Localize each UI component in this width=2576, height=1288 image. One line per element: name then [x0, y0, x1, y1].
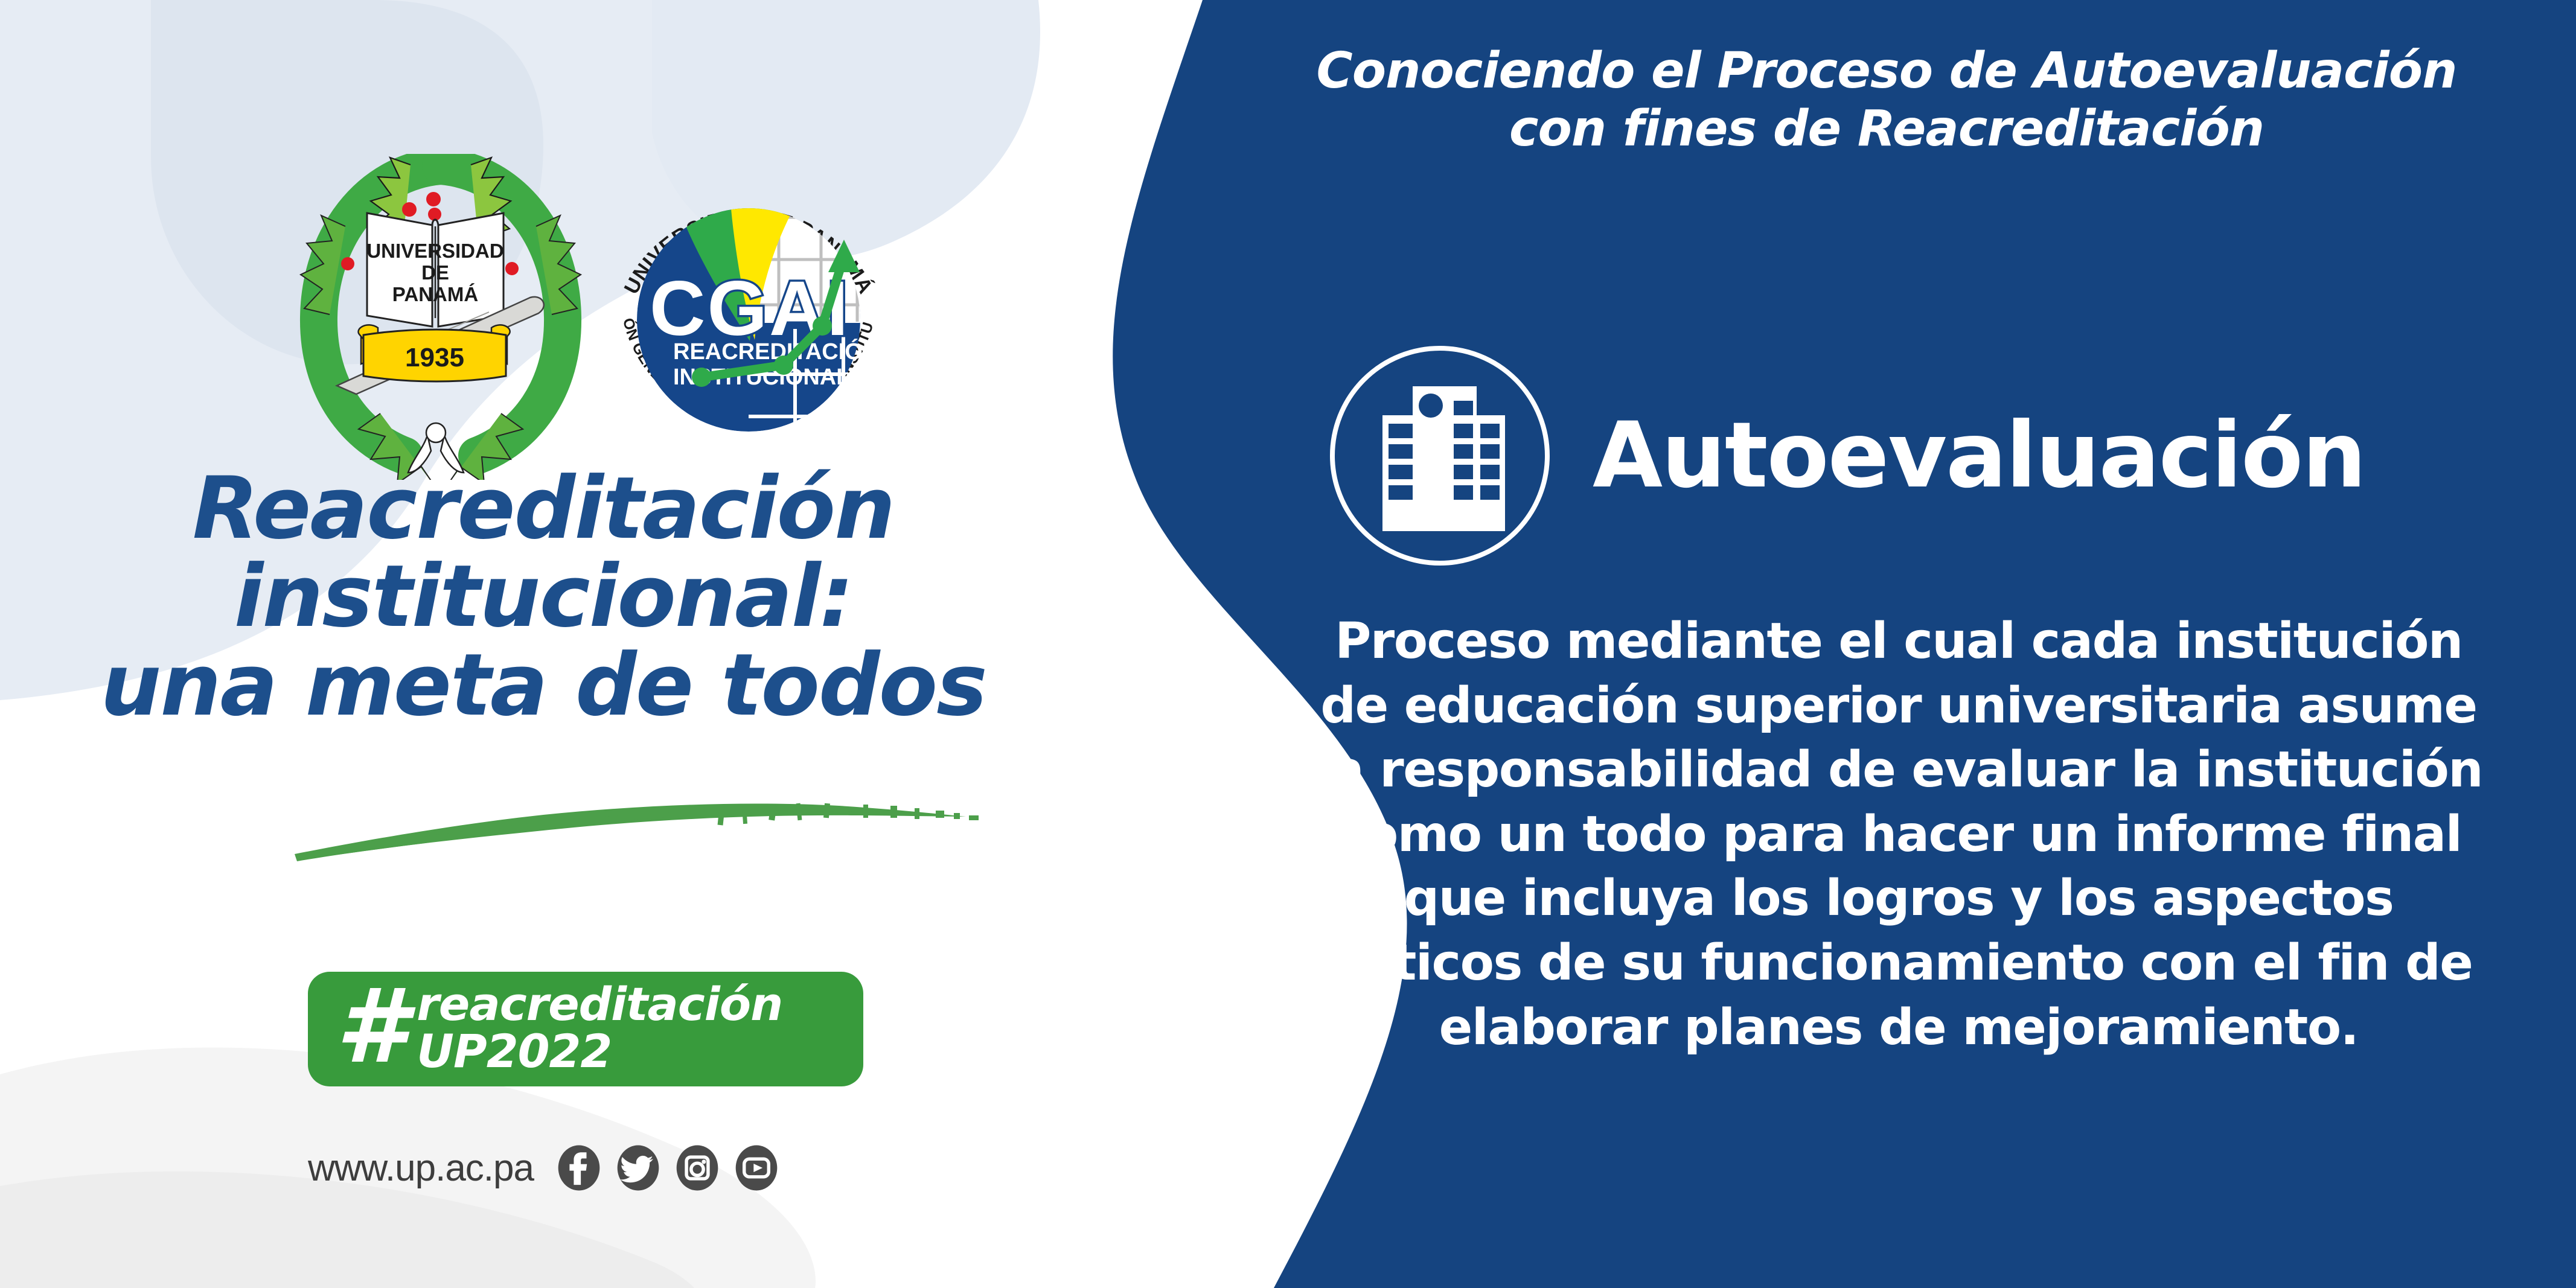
seal-line-1: UNIVERSIDAD [366, 240, 503, 262]
kicker-line-1: Conociendo el Proceso de Autoevaluación [1304, 42, 2469, 100]
facebook-icon[interactable] [555, 1144, 602, 1191]
hash-symbol: # [336, 975, 403, 1078]
instagram-icon[interactable] [674, 1144, 721, 1191]
main-title-line-1: Reacreditación [36, 465, 1050, 553]
hashtag-line-2: UP2022 [417, 1028, 782, 1075]
section-title: Autoevaluación [1593, 410, 2365, 501]
cgai-logo: UNIVERSIDAD DE PANAMÁ COMISIÓN GENERAL D… [592, 160, 906, 474]
seal-line-2: DE [421, 261, 449, 284]
universidad-de-panama-seal: UNIVERSIDAD DE PANAMÁ 1935 [290, 154, 592, 480]
body-line-1: Proceso mediante el cual cada institució… [1310, 610, 2487, 674]
kicker-heading: Conociendo el Proceso de Autoevaluación … [1304, 42, 2469, 158]
social-icons [555, 1144, 780, 1191]
body-line-2: de educación superior universitaria asum… [1310, 674, 2487, 739]
twitter-icon[interactable] [615, 1144, 662, 1191]
hashtag-badge[interactable]: # reacreditación UP2022 [308, 972, 863, 1086]
hashtag-line-1: reacreditación [417, 981, 782, 1028]
main-title-line-2: institucional: [36, 553, 1050, 641]
body-line-5: que incluya los logros y los aspectos [1310, 867, 2487, 931]
poster-canvas: UNIVERSIDAD DE PANAMÁ 1935 [0, 0, 2576, 1288]
seal-line-3: PANAMÁ [392, 283, 478, 305]
body-line-7: elaborar planes de mejoramiento. [1310, 996, 2487, 1060]
body-line-6: críticos de su funcionamiento con el fin… [1310, 931, 2487, 996]
main-title: Reacreditación institucional: una meta d… [36, 465, 1050, 730]
green-brush-underline [260, 782, 1002, 878]
year-ribbon: 1935 [358, 325, 510, 381]
body-line-4: como un todo para hacer un informe final [1310, 803, 2487, 867]
building-icon [1322, 338, 1558, 573]
body-line-3: la responsabilidad de evaluar la institu… [1310, 738, 2487, 803]
kicker-line-2: con fines de Reacreditación [1304, 100, 2469, 158]
body-copy: Proceso mediante el cual cada institució… [1310, 610, 2487, 1060]
website-url[interactable]: www.up.ac.pa [308, 1147, 534, 1190]
section-header: Autoevaluación [1322, 338, 2469, 573]
left-column: UNIVERSIDAD DE PANAMÁ 1935 [0, 0, 1147, 1288]
footer-row: www.up.ac.pa [308, 1135, 780, 1201]
seal-year: 1935 [405, 343, 464, 372]
hashtag-words: reacreditación UP2022 [417, 981, 782, 1074]
right-column: Conociendo el Proceso de Autoevaluación … [1256, 0, 2576, 1288]
main-title-line-3: una meta de todos [36, 642, 1050, 730]
youtube-icon[interactable] [733, 1144, 780, 1191]
logos-row: UNIVERSIDAD DE PANAMÁ 1935 [266, 154, 942, 480]
